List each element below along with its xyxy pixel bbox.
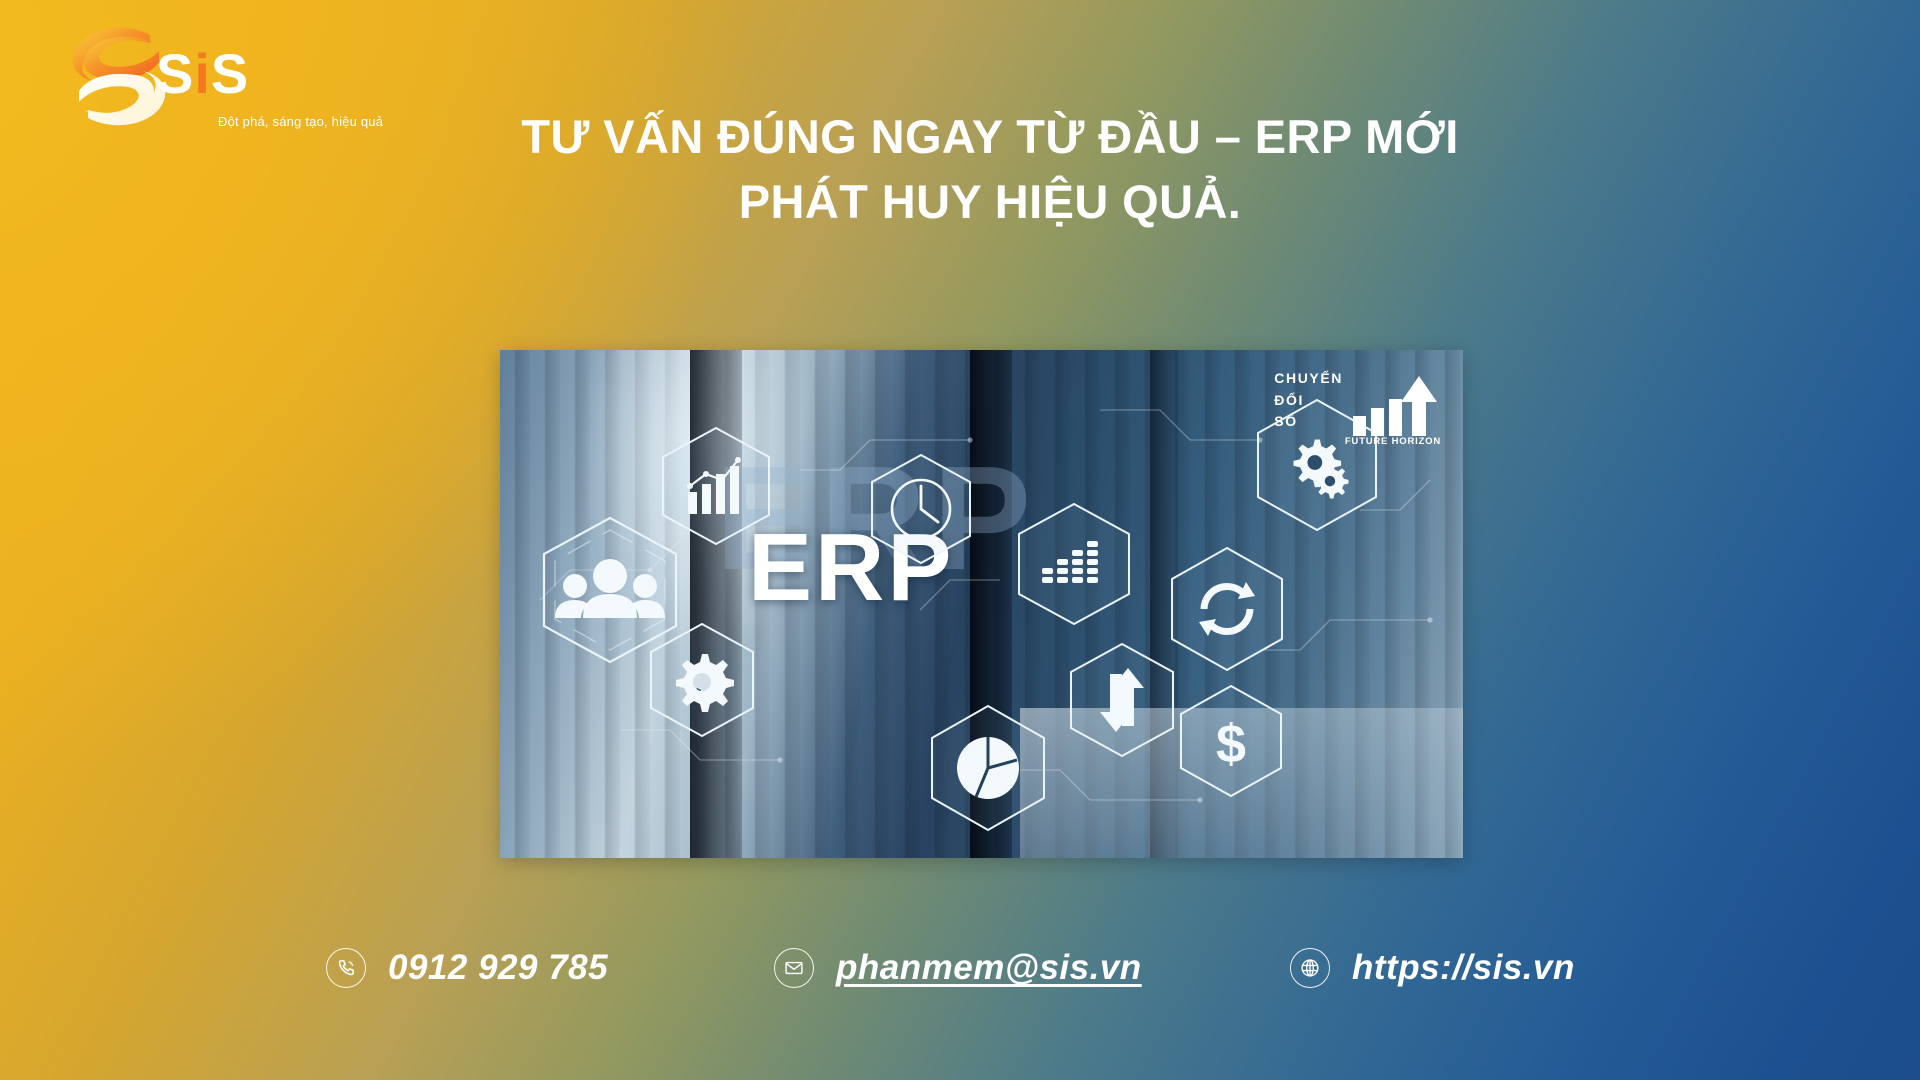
future-horizon-label: FUTURE HORIZON — [1345, 436, 1441, 447]
ds-line-3: SỐ — [1274, 411, 1343, 433]
brand-tagline: Đột phá, sáng tạo, hiệu quả — [218, 114, 383, 129]
equalizer-icon — [1008, 498, 1140, 630]
contact-website[interactable]: https://sis.vn — [1290, 948, 1575, 988]
bar-chart-icon — [652, 422, 780, 550]
brand-logo[interactable]: SiS Đột phá, sáng tạo, hiệu quả — [58, 18, 358, 138]
headline-line-2: PHÁT HUY HIỆU QUẢ. — [400, 170, 1580, 235]
ds-line-1: CHUYỂN — [1274, 368, 1343, 390]
promo-banner: SiS Đột phá, sáng tạo, hiệu quả TƯ VẤN Đ… — [0, 0, 1920, 1080]
ds-line-2: ĐỔI — [1274, 390, 1343, 412]
hero-image: ERP ERP — [500, 350, 1463, 858]
brand-wordmark: SiS — [156, 46, 249, 102]
headline-line-1: TƯ VẤN ĐÚNG NGAY TỪ ĐẦU – ERP MỚI — [400, 105, 1580, 170]
gear-icon — [640, 618, 764, 742]
digital-transformation-label: CHUYỂN ĐỔI SỐ — [1274, 368, 1343, 433]
contact-phone[interactable]: 0912 929 785 — [326, 948, 608, 988]
page-title: TƯ VẤN ĐÚNG NGAY TỪ ĐẦU – ERP MỚI PHÁT H… — [400, 105, 1580, 235]
email-address: phanmem@sis.vn — [836, 948, 1142, 988]
contact-email[interactable]: phanmem@sis.vn — [774, 948, 1142, 988]
pie-chart-icon — [920, 700, 1056, 836]
envelope-icon — [774, 948, 814, 988]
website-url: https://sis.vn — [1352, 948, 1575, 988]
phone-icon — [326, 948, 366, 988]
clock-icon — [862, 450, 980, 568]
svg-text:$: $ — [1216, 714, 1246, 774]
dollar-icon: $ — [1170, 680, 1292, 802]
contact-bar: 0912 929 785 phanmem@sis.vn https://sis.… — [300, 940, 1640, 1010]
sync-icon — [1160, 542, 1294, 676]
phone-number: 0912 929 785 — [388, 948, 608, 988]
globe-icon — [1290, 948, 1330, 988]
